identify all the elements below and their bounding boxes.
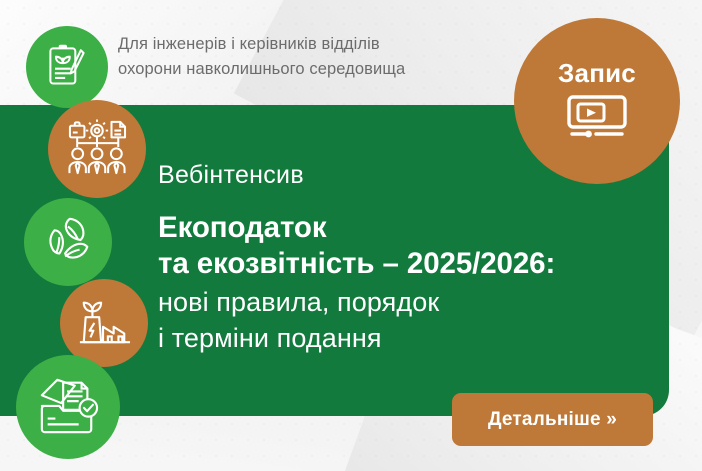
kicker-label: Вебінтенсив [158,161,304,190]
icon-bubble-clipboard-plant [26,26,108,108]
icon-bubble-documents-folder-check [16,355,120,459]
icon-bubble-recycle-leaves [24,198,112,286]
headline-secondary: нові правила, порядок і терміни подання [158,284,658,356]
icon-bubble-team-management [48,100,146,198]
eco-factory-icon [76,294,132,353]
promo-banner: Для інженерів і керівників відділів охор… [0,0,702,471]
team-management-icon [67,118,127,181]
recycle-leaves-icon [41,213,95,272]
clipboard-plant-icon [43,41,91,94]
icon-bubble-eco-factory [60,279,148,367]
record-badge-label: Запис [558,58,636,89]
audience-subtitle: Для інженерів і керівників відділів охор… [118,32,488,82]
details-button[interactable]: Детальніше » [452,393,653,446]
headline-primary: Екоподаток та екозвітність – 2025/2026: [158,210,658,282]
record-badge[interactable]: Запис [514,18,680,184]
headline-block: Екоподаток та екозвітність – 2025/2026: … [158,210,658,356]
documents-folder-check-icon [36,374,100,441]
video-player-icon [566,93,628,144]
